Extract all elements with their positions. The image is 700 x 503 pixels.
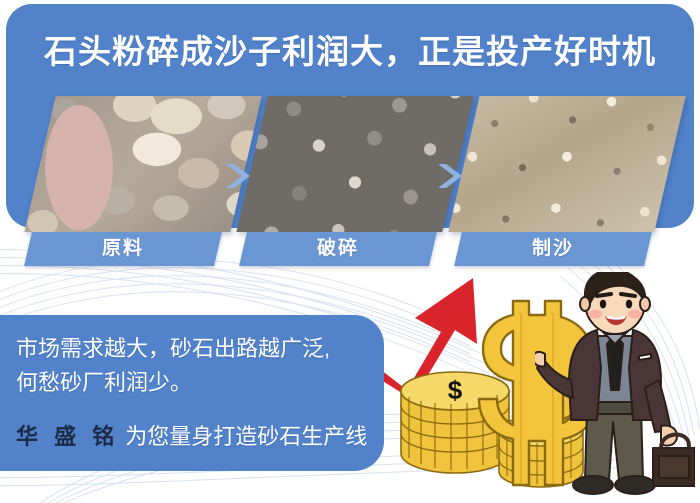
sand-making-photo-icon xyxy=(448,96,685,232)
process-label-sand-making: 制沙 xyxy=(454,232,652,266)
process-label-crushing: 破碎 xyxy=(239,232,437,266)
brand-tagline: 为您量身打造砂石生产线 xyxy=(125,424,367,449)
message-line-1: 市场需求越大，砂石出路越广泛, xyxy=(16,331,330,363)
chevron-right-icon xyxy=(434,162,464,190)
brand-name: 华 盛 铭 xyxy=(16,424,125,449)
message-panel: 市场需求越大，砂石出路越广泛, 何愁砂厂利润少。 华 盛 铭为您量身打造砂石生产… xyxy=(0,315,384,471)
chevron-right-icon xyxy=(222,162,252,190)
page-title: 石头粉碎成沙子利润大，正是投产好时机 xyxy=(6,30,694,74)
process-label-text: 破碎 xyxy=(243,232,433,266)
message-line-3: 华 盛 铭为您量身打造砂石生产线 xyxy=(16,419,367,451)
promo-banner: 石头粉碎成沙子利润大，正是投产好时机 原料 破碎 制沙 xyxy=(0,0,700,503)
process-label-text: 制沙 xyxy=(458,232,648,266)
svg-text:$: $ xyxy=(448,375,463,405)
process-label-text: 原料 xyxy=(28,232,218,266)
process-label-raw-material: 原料 xyxy=(24,232,222,266)
process-photo-sand-making xyxy=(448,96,685,232)
message-line-2: 何愁砂厂利润少。 xyxy=(16,365,192,397)
businessman-with-briefcase-icon xyxy=(535,272,695,503)
